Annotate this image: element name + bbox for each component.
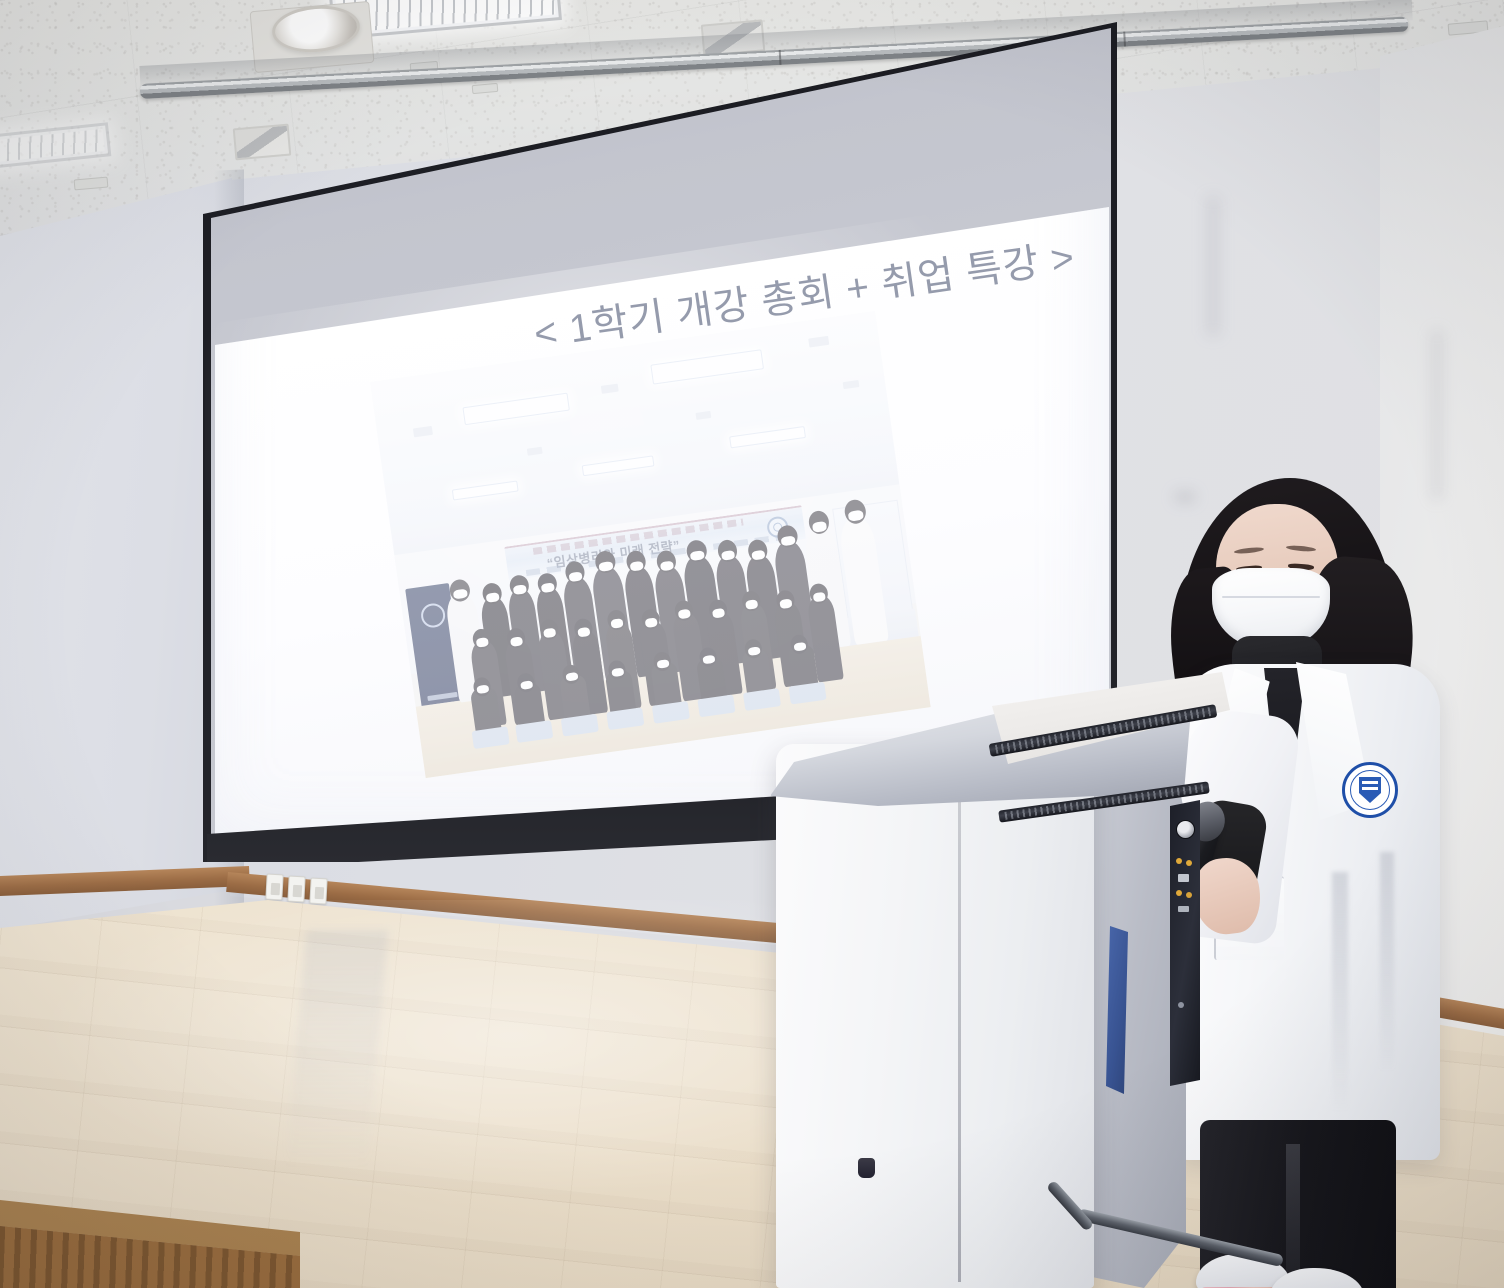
cabinet-door-seam (958, 794, 961, 1282)
eyebrow-left (1234, 546, 1264, 554)
eyebrow-right (1286, 545, 1316, 553)
university-crest-icon (1342, 762, 1398, 818)
cabinet-lock-knob-icon[interactable] (1176, 820, 1195, 839)
indicator-led (1186, 892, 1192, 898)
cabinet-knob-icon[interactable] (858, 1158, 875, 1178)
lecture-hall-photo: < 1학기 개강 총회 + 취업 특강 > (0, 0, 1504, 1288)
coat-fold (1332, 872, 1348, 1112)
wall-mark (1206, 196, 1220, 336)
indicator-led (1176, 890, 1182, 896)
av-lectern-cabinet[interactable] (762, 672, 1232, 1288)
indicator-led (1186, 860, 1192, 866)
cabinet-front-face (776, 744, 1094, 1288)
wall-power-outlet-icon (287, 876, 305, 903)
wall-power-outlet-icon (265, 874, 283, 901)
crest-shield (1359, 777, 1381, 803)
indicator-led (1176, 858, 1182, 864)
cabinet-control-panel[interactable] (1170, 800, 1200, 1086)
trouser-leg-gap (1286, 1144, 1300, 1288)
coat-fold (1380, 852, 1394, 1072)
indicator-led (1178, 1002, 1184, 1008)
mask-fold (1222, 596, 1320, 598)
cabinet-side-face (1078, 734, 1186, 1288)
usb-port-icon[interactable] (1178, 874, 1189, 882)
audio-jack-icon[interactable] (1178, 906, 1189, 912)
